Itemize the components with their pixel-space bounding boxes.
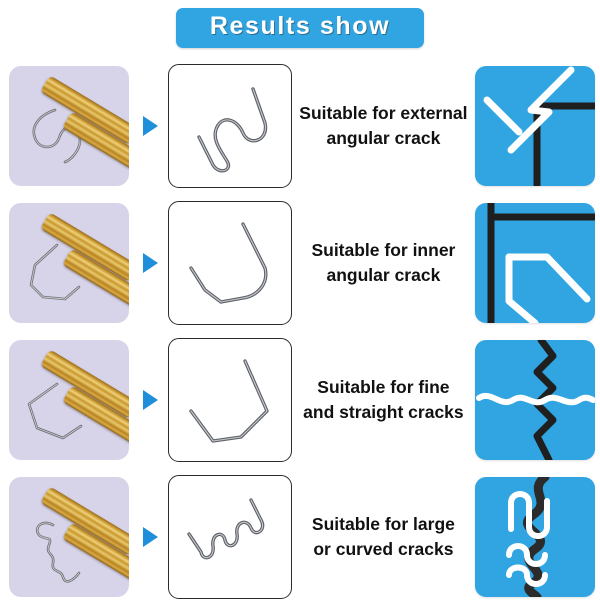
inner-angular-crack-graphic bbox=[475, 203, 595, 323]
staple-shape-flat bbox=[168, 338, 292, 462]
welding-tool-photo-u-staple bbox=[9, 203, 129, 323]
row-caption: Suitable for large or curved cracks bbox=[312, 512, 455, 562]
page-title-bar: Results show bbox=[176, 8, 424, 48]
result-row: Suitable for external angular crack bbox=[0, 57, 600, 194]
caption-line-2: or curved cracks bbox=[312, 537, 455, 562]
caption-cell: Suitable for external angular crack bbox=[297, 101, 470, 151]
staple-u-graphic bbox=[169, 202, 291, 324]
rows-container: Suitable for external angular crack bbox=[0, 57, 600, 605]
result-row: Suitable for large or curved cracks bbox=[0, 468, 600, 605]
staple-squiggle-graphic bbox=[169, 476, 291, 598]
arrow-cell bbox=[139, 116, 163, 136]
staple-wave-graphic bbox=[169, 65, 291, 187]
row-caption: Suitable for external angular crack bbox=[299, 101, 467, 151]
arrow-icon bbox=[143, 527, 158, 547]
welding-tool-photo-wave-staple bbox=[9, 66, 129, 186]
large-curved-crack-graphic bbox=[475, 477, 595, 597]
staple-shape-wave bbox=[168, 64, 292, 188]
crack-icon-cell bbox=[470, 203, 600, 323]
staple-cell bbox=[163, 338, 297, 462]
caption-line-2: and straight cracks bbox=[303, 400, 463, 425]
arrow-icon bbox=[143, 390, 158, 410]
caption-cell: Suitable for fine and straight cracks bbox=[297, 375, 470, 425]
staple-cell bbox=[163, 201, 297, 325]
external-angular-crack-graphic bbox=[475, 66, 595, 186]
caption-line-1: Suitable for fine bbox=[303, 375, 463, 400]
arrow-cell bbox=[139, 253, 163, 273]
photo-cell bbox=[0, 477, 139, 597]
fine-straight-crack-icon bbox=[475, 340, 595, 460]
results-show-infographic: Results show bbox=[0, 0, 600, 600]
result-row: Suitable for fine and straight cracks bbox=[0, 331, 600, 468]
page-title-container: Results show bbox=[0, 8, 600, 48]
caption-line-2: angular crack bbox=[299, 126, 467, 151]
staple-shape-squiggle bbox=[168, 475, 292, 599]
arrow-cell bbox=[139, 390, 163, 410]
welding-tool-photo-squiggle-staple bbox=[9, 477, 129, 597]
result-row: Suitable for inner angular crack bbox=[0, 194, 600, 331]
caption-line-1: Suitable for external bbox=[299, 101, 467, 126]
crack-icon-cell bbox=[470, 66, 600, 186]
inner-angular-crack-icon bbox=[475, 203, 595, 323]
photo-cell bbox=[0, 340, 139, 460]
caption-line-1: Suitable for inner bbox=[311, 238, 455, 263]
crack-icon-cell bbox=[470, 477, 600, 597]
page-title: Results show bbox=[210, 13, 390, 41]
staple-shape-u bbox=[168, 201, 292, 325]
photo-cell bbox=[0, 203, 139, 323]
photo-cell bbox=[0, 66, 139, 186]
caption-line-2: angular crack bbox=[311, 263, 455, 288]
staple-cell bbox=[163, 64, 297, 188]
fine-straight-crack-graphic bbox=[475, 340, 595, 460]
arrow-icon bbox=[143, 116, 158, 136]
external-angular-crack-icon bbox=[475, 66, 595, 186]
arrow-cell bbox=[139, 527, 163, 547]
caption-cell: Suitable for large or curved cracks bbox=[297, 512, 470, 562]
large-curved-crack-icon bbox=[475, 477, 595, 597]
staple-flat-graphic bbox=[169, 339, 291, 461]
arrow-icon bbox=[143, 253, 158, 273]
staple-cell bbox=[163, 475, 297, 599]
caption-cell: Suitable for inner angular crack bbox=[297, 238, 470, 288]
row-caption: Suitable for inner angular crack bbox=[311, 238, 455, 288]
row-caption: Suitable for fine and straight cracks bbox=[303, 375, 463, 425]
crack-icon-cell bbox=[470, 340, 600, 460]
caption-line-1: Suitable for large bbox=[312, 512, 455, 537]
welding-tool-photo-flat-staple bbox=[9, 340, 129, 460]
